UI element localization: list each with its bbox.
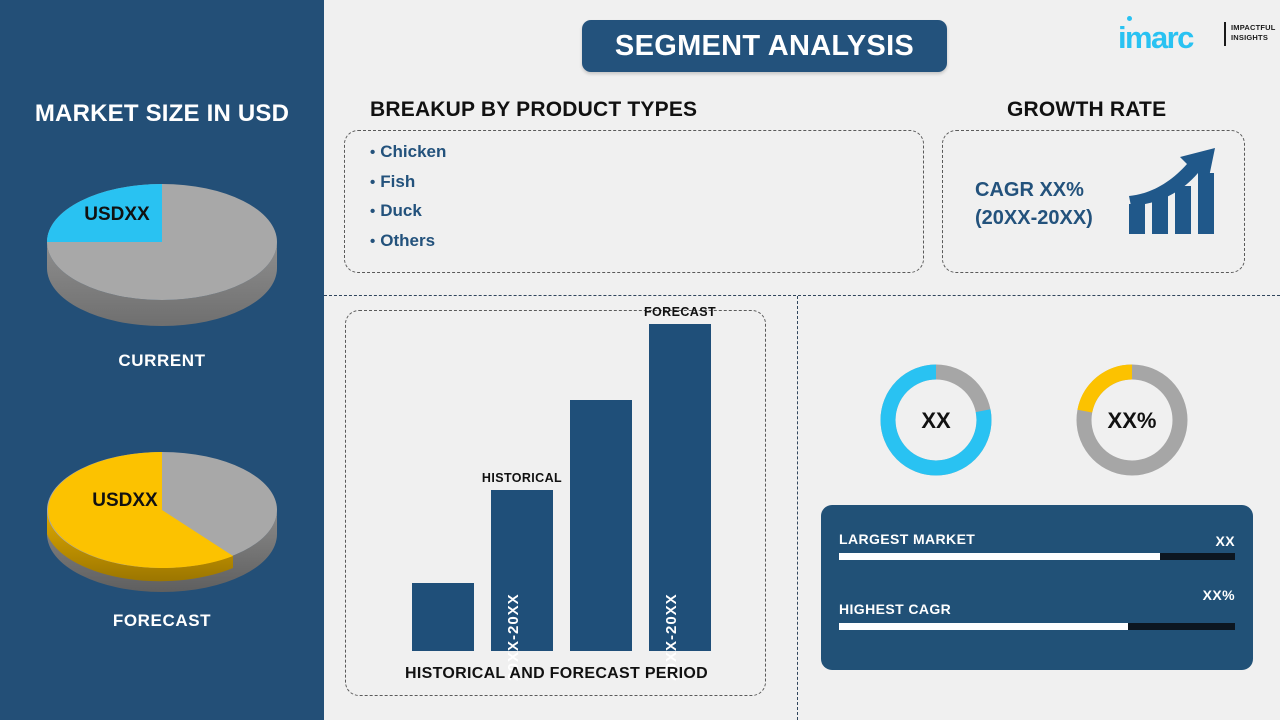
table-row[interactable]	[412, 583, 474, 651]
historical-forecast-chart: HISTORICAL 20XX-20XX FORECAST 20XX-20XX …	[345, 310, 766, 696]
pie-slice-value: USDXX	[92, 490, 158, 511]
list-item[interactable]: •Chicken	[370, 138, 446, 168]
bar-chart-plot: HISTORICAL 20XX-20XX FORECAST 20XX-20XX …	[346, 311, 767, 697]
growth-arrow-chart-icon	[1125, 146, 1221, 238]
cagr-line-2: (20XX-20XX)	[975, 204, 1093, 232]
logo-divider	[1224, 22, 1226, 46]
horizontal-divider	[324, 295, 1280, 296]
table-row[interactable]: FORECAST 20XX-20XX	[649, 324, 711, 651]
stat-progress-fill	[839, 553, 1160, 560]
pie-slice-value: USDXX	[84, 204, 150, 225]
donut-svg: XX	[874, 358, 998, 482]
table-row[interactable]	[570, 400, 632, 651]
stat-progress-fill	[839, 623, 1128, 630]
current-pie-chart: USDXX CURRENT	[0, 162, 324, 371]
bar-annotation: FORECAST	[644, 305, 716, 319]
donut-svg: XX%	[1070, 358, 1194, 482]
stat-progress-track[interactable]	[839, 553, 1235, 560]
forecast-pie-chart: USDXX FORECAST	[0, 430, 324, 631]
header-band: SEGMENT ANALYSIS imarc IMPACTFUL INSIGHT…	[324, 0, 1280, 88]
current-pie-label: CURRENT	[0, 351, 324, 371]
market-size-sidebar: MARKET SIZE IN USD USDXX CURRENT	[0, 0, 324, 720]
highest-cagr-donut: XX%	[1070, 358, 1194, 487]
donut-center-value: XX%	[1108, 408, 1157, 433]
list-item[interactable]: •Fish	[370, 168, 446, 198]
product-types-list: •Chicken •Fish •Duck •Others	[370, 138, 446, 256]
logo-tagline: IMPACTFUL INSIGHTS	[1231, 23, 1276, 43]
bullet-icon: •	[370, 233, 375, 250]
list-item[interactable]: •Others	[370, 227, 446, 257]
breakup-heading: BREAKUP BY PRODUCT TYPES	[370, 98, 697, 122]
bar-annotation: HISTORICAL	[482, 471, 562, 485]
stat-progress-track[interactable]	[839, 623, 1235, 630]
stat-label: HIGHEST CAGR	[839, 601, 951, 617]
stats-panel: LARGEST MARKET XX HIGHEST CAGR XX%	[821, 505, 1253, 670]
cagr-line-1: CAGR XX%	[975, 176, 1093, 204]
stat-label: LARGEST MARKET	[839, 531, 975, 547]
list-item-label: Fish	[380, 172, 415, 191]
largest-market-donut: XX	[874, 358, 998, 487]
bullet-icon: •	[370, 203, 375, 220]
sidebar-title: MARKET SIZE IN USD	[0, 100, 324, 128]
table-row[interactable]: HISTORICAL 20XX-20XX	[491, 490, 553, 651]
stat-value: XX%	[1203, 587, 1235, 603]
imarc-logo: imarc IMPACTFUL INSIGHTS	[1114, 10, 1266, 54]
list-item-label: Duck	[380, 201, 422, 220]
stat-value: XX	[1216, 533, 1235, 549]
forecast-pie-label: FORECAST	[0, 611, 324, 631]
cagr-text: CAGR XX% (20XX-20XX)	[975, 176, 1093, 232]
donut-center-value: XX	[921, 408, 951, 433]
logo-tagline-line1: IMPACTFUL	[1231, 23, 1276, 33]
logo-wordmark: imarc	[1118, 22, 1193, 53]
page-title-text: SEGMENT ANALYSIS	[615, 30, 914, 63]
bullet-icon: •	[370, 144, 375, 161]
list-item-label: Chicken	[380, 142, 446, 161]
list-item-label: Others	[380, 231, 435, 250]
forecast-pie-svg: USDXX	[37, 430, 287, 595]
logo-tagline-line2: INSIGHTS	[1231, 33, 1276, 43]
current-pie-svg: USDXX	[37, 162, 287, 327]
page-title: SEGMENT ANALYSIS	[582, 20, 947, 72]
vertical-divider	[797, 296, 798, 720]
growth-heading: GROWTH RATE	[1007, 98, 1166, 122]
list-item[interactable]: •Duck	[370, 197, 446, 227]
chart-x-axis-label: HISTORICAL AND FORECAST PERIOD	[346, 665, 767, 683]
bullet-icon: •	[370, 174, 375, 191]
